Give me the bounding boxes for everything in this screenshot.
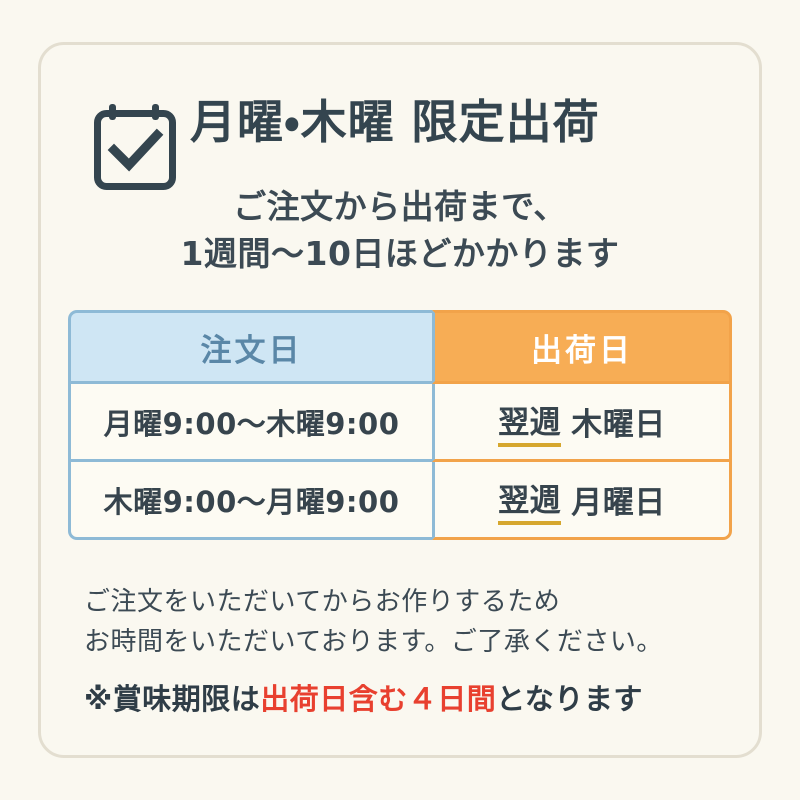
title-block: 月曜・木曜 限定出荷 (190, 96, 732, 149)
ship-week-emphasis: 翌週 (498, 397, 561, 447)
page-title: 月曜・木曜 限定出荷 (190, 96, 732, 149)
ship-weekday: 月曜日 (571, 477, 666, 522)
card-content: 月曜・木曜 限定出荷 ご注文から出荷まで、 1週間〜10日ほどかかります 注文日… (0, 0, 800, 800)
notice-card: 月曜・木曜 限定出荷 ご注文から出荷まで、 1週間〜10日ほどかかります 注文日… (0, 0, 800, 800)
ship-week-emphasis: 翌週 (498, 475, 561, 525)
banner-header: 月曜・木曜 限定出荷 (68, 96, 732, 190)
ship-day-cell: 翌週木曜日 (432, 384, 732, 462)
notes-block: ご注文をいただいてからお作りするため お時間をいただいております。ご了承ください… (84, 582, 724, 663)
calendar-check-icon (94, 102, 176, 190)
expiry-note: ※賞味期限は出荷日含む４日間となります (84, 676, 734, 718)
note-line-2: お時間をいただいております。ご了承ください。 (84, 622, 724, 662)
table-row: 木曜9:00〜月曜9:00 翌週月曜日 (68, 462, 732, 540)
subtitle-line-1: ご注文から出荷まで、 (0, 184, 800, 231)
table-header-row: 注文日 出荷日 (68, 310, 732, 384)
shipping-schedule-table: 注文日 出荷日 月曜9:00〜木曜9:00 翌週木曜日 木曜9:00〜月曜9:0… (68, 310, 732, 560)
table-header-ship-date: 出荷日 (432, 310, 732, 384)
table-header-order-date: 注文日 (68, 310, 432, 384)
table-row: 月曜9:00〜木曜9:00 翌週木曜日 (68, 384, 732, 462)
subtitle-line-2: 1週間〜10日ほどかかります (0, 231, 800, 278)
ship-day-cell: 翌週月曜日 (432, 462, 732, 540)
expiry-note-prefix: ※賞味期限は (84, 682, 260, 716)
note-line-1: ご注文をいただいてからお作りするため (84, 582, 724, 622)
ship-weekday: 木曜日 (571, 399, 666, 444)
expiry-note-suffix: となります (496, 682, 643, 716)
order-window-cell: 月曜9:00〜木曜9:00 (68, 384, 432, 462)
banner-subtitle: ご注文から出荷まで、 1週間〜10日ほどかかります (0, 184, 800, 278)
order-window-cell: 木曜9:00〜月曜9:00 (68, 462, 432, 540)
expiry-note-highlight: 出荷日含む４日間 (260, 682, 496, 716)
